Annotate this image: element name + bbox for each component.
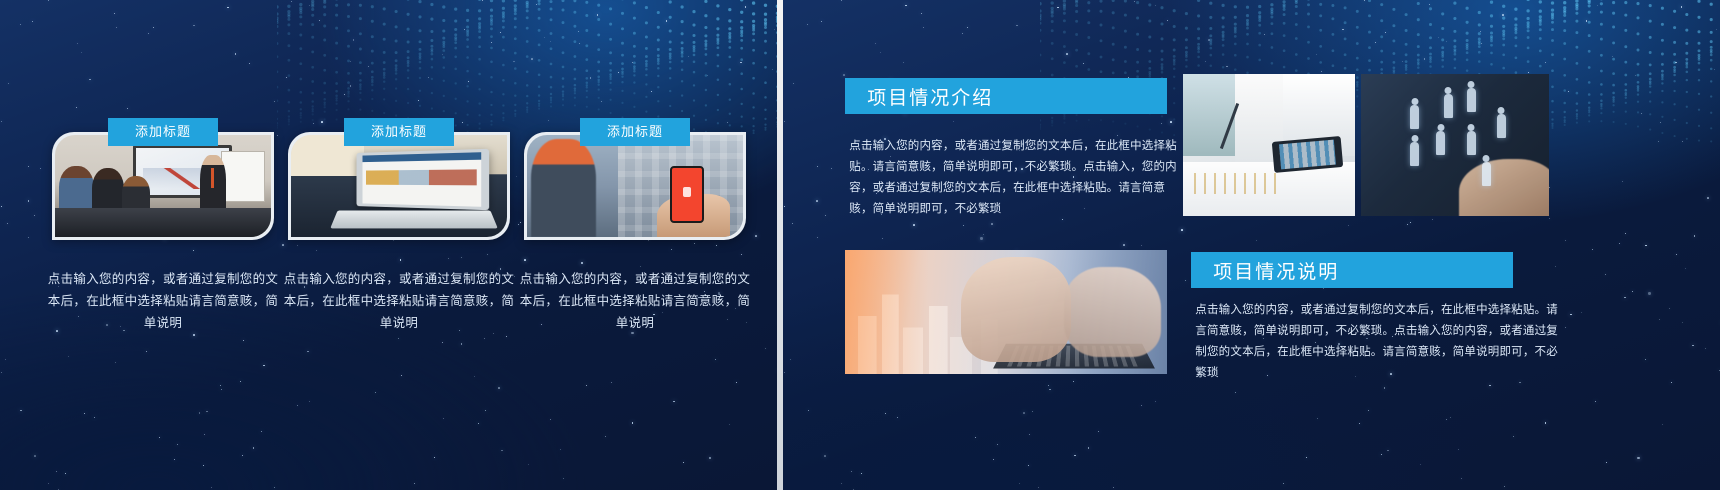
typing-hand-left — [961, 257, 1070, 361]
laptop-desk-photo — [291, 135, 507, 237]
card-1-caption: 点击输入您的内容，或者通过复制您的文本后，在此框中选择粘贴请言简意赅，简单说明 — [46, 268, 280, 334]
card-2-caption: 点击输入您的内容，或者通过复制您的文本后，在此框中选择粘贴请言简意赅，简单说明 — [282, 268, 516, 334]
city-hands-laptop-image — [845, 250, 1167, 374]
city-hands-laptop-photo — [845, 250, 1167, 374]
slide-divider — [777, 0, 783, 490]
card-3-photo-frame — [524, 132, 746, 240]
right-slide: 项目情况介绍 点击输入您的内容，或者通过复制您的文本后，在此框中选择粘贴。请言简… — [783, 0, 1720, 490]
people-network-image — [1361, 74, 1549, 216]
laptop-keyboard — [330, 211, 498, 229]
section-title-project-intro[interactable]: 项目情况介绍 — [845, 78, 1167, 114]
open-palm — [1459, 159, 1549, 216]
laptop-screen — [357, 149, 490, 211]
attendee-figure-1 — [59, 166, 94, 213]
person-node-icon — [1410, 105, 1419, 129]
conference-table — [55, 208, 271, 237]
smartphone-street-photo — [527, 135, 743, 237]
chart-papers — [1183, 162, 1355, 216]
person-node-icon — [1497, 114, 1506, 138]
person-node-icon — [1410, 142, 1419, 166]
people-network-photo — [1361, 74, 1549, 216]
left-slide: 添加标题 点击输入您的内容，或者通过复制您的文本后，在此框中选择粘贴请言简意赅，… — [0, 0, 777, 490]
smartphone-device — [670, 166, 705, 223]
card-1-title-tab[interactable]: 添加标题 — [108, 118, 218, 146]
tablet-meeting-photo — [1183, 74, 1355, 216]
person-node-icon — [1436, 131, 1445, 155]
person-node-icon — [1467, 131, 1476, 155]
right-content: 项目情况介绍 点击输入您的内容，或者通过复制您的文本后，在此框中选择粘贴。请言简… — [783, 0, 1720, 490]
presenter-figure — [200, 155, 226, 216]
person-node-icon — [1467, 88, 1476, 112]
flip-chart — [221, 151, 264, 202]
person-node-icon — [1444, 94, 1453, 118]
attendee-figure-3 — [122, 176, 150, 213]
typing-hand-right — [1064, 267, 1161, 356]
attendee-figure-2 — [92, 168, 124, 213]
section-title-project-description[interactable]: 项目情况说明 — [1191, 252, 1513, 288]
slide-pair-canvas: 添加标题 点击输入您的内容，或者通过复制您的文本后，在此框中选择粘贴请言简意赅，… — [0, 0, 1720, 490]
card-3-caption: 点击输入您的内容，或者通过复制您的文本后，在此框中选择粘贴请言简意赅，简单说明 — [518, 268, 752, 334]
card-3-title-tab[interactable]: 添加标题 — [580, 118, 690, 146]
meeting-presentation-photo — [55, 135, 271, 237]
card-2-title-tab[interactable]: 添加标题 — [344, 118, 454, 146]
tablet-meeting-image — [1183, 74, 1355, 216]
card-1-photo-frame — [52, 132, 274, 240]
section-body-project-intro: 点击输入您的内容，或者通过复制您的文本后，在此框中选择粘贴。请言简意赅，简单说明… — [849, 136, 1179, 220]
card-2-photo-frame — [288, 132, 510, 240]
tablet-device — [1271, 136, 1342, 173]
pedestrian-figure — [531, 139, 596, 237]
card-row: 添加标题 点击输入您的内容，或者通过复制您的文本后，在此框中选择粘贴请言简意赅，… — [0, 118, 777, 358]
section-body-project-description: 点击输入您的内容，或者通过复制您的文本后，在此框中选择粘贴。请言简意赅，简单说明… — [1195, 300, 1567, 384]
person-node-icon — [1482, 162, 1491, 186]
